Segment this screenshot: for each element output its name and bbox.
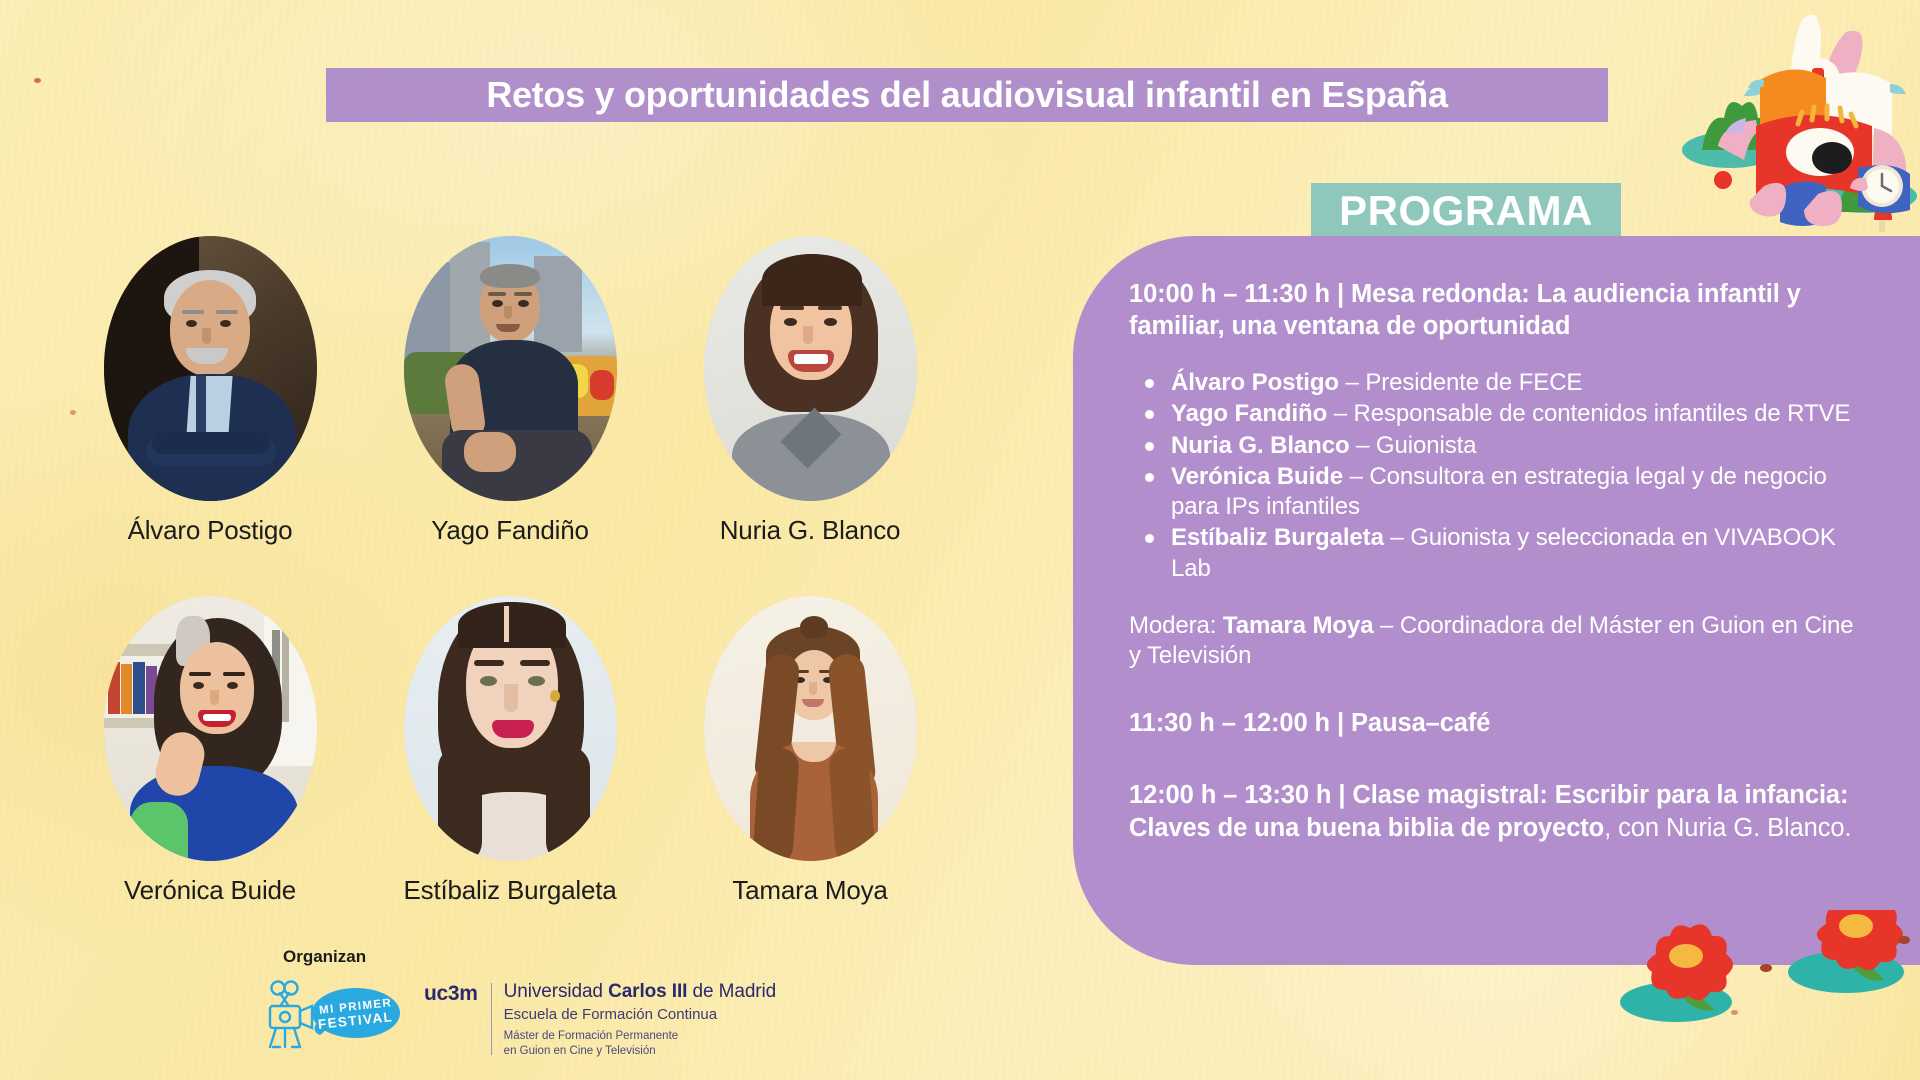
session-2-title: Pausa–café [1351, 709, 1490, 737]
session-1-speaker-list: Álvaro Postigo – Presidente de FECE Yago… [1129, 368, 1868, 584]
uc3m-wordmark: uc3m [424, 981, 478, 1006]
poster-title: Retos y oportunidades del audiovisual in… [486, 74, 1447, 116]
moderator-prefix: Modera: [1129, 612, 1223, 639]
session-1-heading: 10:00 h – 11:30 h | Mesa redonda: La aud… [1129, 278, 1868, 342]
speaker-name-label: Tamara Moya [732, 875, 887, 906]
poster-title-banner: Retos y oportunidades del audiovisual in… [326, 68, 1608, 122]
portrait-nuria-g-blanco [704, 236, 917, 501]
uc3m-text-block: Universidad Carlos III de Madrid Escuela… [504, 981, 776, 1060]
speaker-name: Nuria G. Blanco [1171, 432, 1350, 459]
organizan-label: Organizan [283, 947, 366, 967]
speaker-name-label: Verónica Buide [124, 875, 296, 906]
speaker-row-2: Verónica Buide [60, 596, 1020, 906]
speaker-name: Verónica Buide [1171, 463, 1343, 490]
portrait-yago-fandino [404, 236, 617, 501]
uc3m-master-line: Máster de Formación Permanente en Guion … [504, 1029, 776, 1060]
speaker-name: Yago Fandiño [1171, 400, 1327, 427]
avatar [404, 236, 617, 501]
logo-uc3m[interactable]: uc3m Universidad Carlos III de Madrid Es… [424, 973, 776, 1060]
list-item: Estíbaliz Burgaleta – Guionista y selecc… [1171, 523, 1868, 583]
uc3m-university-line: Universidad Carlos III de Madrid [504, 981, 776, 1003]
list-item: Nuria G. Blanco – Guionista [1171, 431, 1868, 461]
speaker-name-label: Nuria G. Blanco [720, 515, 901, 546]
session-1-time: 10:00 h – 11:30 h | [1129, 280, 1351, 308]
list-item: Verónica Buide – Consultora en estrategi… [1171, 462, 1868, 522]
logo-mi-primer-festival[interactable]: MI PRIMER FESTIVAL [262, 973, 402, 1051]
speaker-name: Estíbaliz Burgaleta [1171, 524, 1384, 551]
session-3-time: 12:00 h – 13:30 h | [1129, 781, 1352, 809]
speaker-card-tamara-moya: Tamara Moya [660, 596, 960, 906]
portrait-tamara-moya [704, 596, 917, 861]
uc3m-school-line: Escuela de Formación Continua [504, 1006, 776, 1023]
uc3m-master-line-a: Máster de Formación Permanente [504, 1029, 776, 1044]
speaker-card-nuria-g-blanco: Nuria G. Blanco [660, 236, 960, 546]
speaker-photo-grid: Álvaro Postigo [60, 236, 1020, 906]
uc3m-line1-b: Carlos III [608, 981, 687, 1002]
list-item: Yago Fandiño – Responsable de contenidos… [1171, 399, 1868, 429]
speaker-card-yago-fandino: Yago Fandiño [360, 236, 660, 546]
session-2-heading: 11:30 h – 12:00 h | Pausa–café [1129, 707, 1868, 739]
session-1-moderator: Modera: Tamara Moya – Coordinadora del M… [1129, 611, 1868, 671]
portrait-veronica-buide [104, 596, 317, 861]
speaker-card-alvaro-postigo: Álvaro Postigo [60, 236, 360, 546]
uc3m-line1-a: Universidad [504, 981, 608, 1002]
portrait-estibaliz-burgaleta [404, 596, 617, 861]
avatar [704, 236, 917, 501]
organizer-logos: MI PRIMER FESTIVAL uc3m Universidad Carl… [262, 973, 776, 1060]
programa-banner: PROGRAMA [1311, 183, 1621, 238]
speaker-row-1: Álvaro Postigo [60, 236, 1020, 546]
logo-divider [491, 983, 492, 1055]
speaker-role: – Responsable de contenidos infantiles d… [1327, 400, 1850, 427]
speaker-card-estibaliz-burgaleta: Estíbaliz Burgaleta [360, 596, 660, 906]
speaker-name-label: Yago Fandiño [431, 515, 589, 546]
moderator-name: Tamara Moya [1223, 612, 1374, 639]
session-2-time: 11:30 h – 12:00 h | [1129, 709, 1351, 737]
flowers-illustration [1560, 910, 1920, 1080]
speaker-role: – Presidente de FECE [1339, 369, 1582, 396]
programa-label: PROGRAMA [1339, 187, 1593, 235]
session-3-suffix: , con Nuria G. Blanco. [1604, 814, 1851, 842]
speaker-card-veronica-buide: Verónica Buide [60, 596, 360, 906]
speaker-name: Álvaro Postigo [1171, 369, 1339, 396]
avatar [404, 596, 617, 861]
speaker-name-label: Álvaro Postigo [128, 515, 293, 546]
speaker-name-label: Estíbaliz Burgaleta [404, 875, 617, 906]
rabbit-reading-illustration [1660, 0, 1920, 240]
session-3-heading: 12:00 h – 13:30 h | Clase magistral: Esc… [1129, 779, 1868, 843]
program-panel: 10:00 h – 11:30 h | Mesa redonda: La aud… [1073, 236, 1920, 965]
avatar [104, 236, 317, 501]
uc3m-master-line-b: en Guion en Cine y Televisión [504, 1044, 776, 1059]
avatar [104, 596, 317, 861]
paper-fleck [34, 78, 41, 83]
speaker-role: – Guionista [1350, 432, 1477, 459]
list-item: Álvaro Postigo – Presidente de FECE [1171, 368, 1868, 398]
uc3m-line1-c: de Madrid [687, 981, 776, 1002]
portrait-alvaro-postigo [104, 236, 317, 501]
avatar [704, 596, 917, 861]
